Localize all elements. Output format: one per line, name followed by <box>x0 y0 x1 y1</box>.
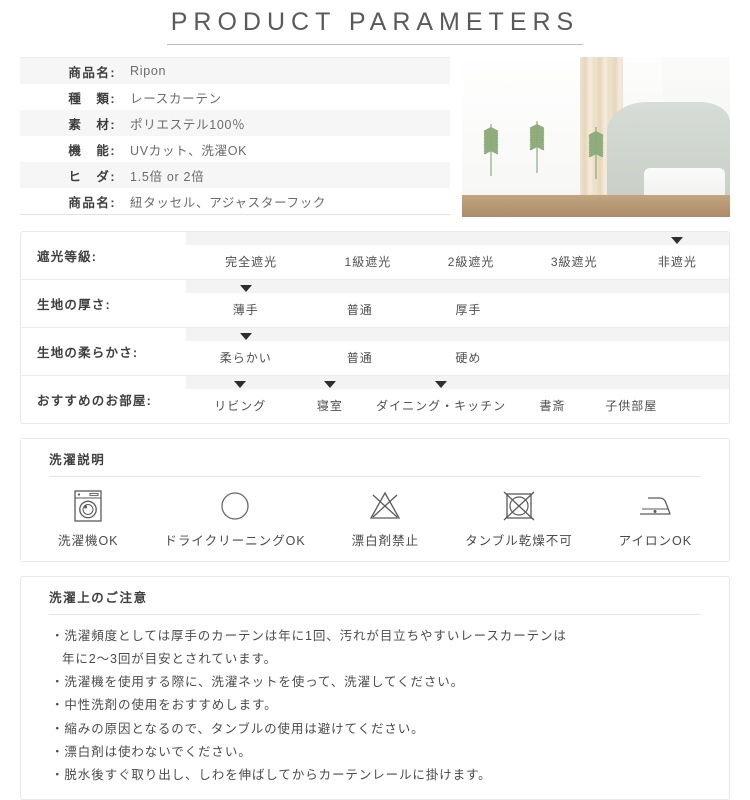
scale-options: 柔らかい普通硬め <box>186 328 729 375</box>
scale-option-label: 普通 <box>347 303 373 317</box>
scale-option-label: 子供部屋 <box>605 399 657 413</box>
spec-value: Ripon <box>130 64 166 78</box>
scale-option-label: 普通 <box>347 351 373 365</box>
leaf-motif-icon <box>529 121 545 173</box>
scale-option-label: 寝室 <box>317 399 343 413</box>
caution-item: ・脱水後すぐ取り出し、しわを伸ばしてからカーテンレールに掛けます。 <box>51 764 699 787</box>
scale-option-label: リビング <box>214 399 266 413</box>
scale-options: リビング寝室ダイニング・キッチン書斎子供部屋 <box>186 376 729 423</box>
scale-option[interactable]: 硬め <box>414 349 523 366</box>
scale-option[interactable]: 寝室 <box>295 397 366 414</box>
scale-option-label: 書斎 <box>539 399 565 413</box>
scale-label: 生地の柔らかさ: <box>21 328 186 375</box>
spec-value: UVカット、洗濯OK <box>130 140 247 159</box>
care-label: タンブル乾燥不可 <box>465 530 573 549</box>
spec-area: 商品名:Ripon種 類:レースカーテン素 材:ポリエステル100％機 能:UV… <box>20 57 730 217</box>
caution-line: ・脱水後すぐ取り出し、しわを伸ばしてからカーテンレールに掛けます。 <box>51 768 492 782</box>
scale-option[interactable]: 柔らかい <box>186 349 305 366</box>
scale-option[interactable]: リビング <box>186 397 295 414</box>
caution-line: ・中性洗剤の使用をおすすめします。 <box>51 698 278 712</box>
caution-item: ・漂白剤は使わないでください。 <box>51 741 699 764</box>
caution-item: ・中性洗剤の使用をおすすめします。 <box>51 694 699 717</box>
care-heading: 洗濯説明 <box>49 449 701 477</box>
scale-option-label: ダイニング・キッチン <box>376 399 506 413</box>
scale-option[interactable]: 薄手 <box>186 301 305 318</box>
scale-row: 生地の柔らかさ:柔らかい普通硬め <box>21 328 729 376</box>
scale-option[interactable]: ダイニング・キッチン <box>365 397 517 414</box>
scale-option-label: 1級遮光 <box>345 255 392 269</box>
caution-line: ・縮みの原因となるので、タンブルの使用は避けてください。 <box>51 722 425 736</box>
caution-line: ・洗濯頻度としては厚手のカーテンは年に1回、汚れが目立ちやすいレースカーテンは <box>51 629 567 643</box>
no-bleach-triangle-icon <box>368 489 402 523</box>
scale-option-label: 2級遮光 <box>448 255 495 269</box>
caution-section: 洗濯上のご注意 ・洗濯頻度としては厚手のカーテンは年に1回、汚れが目立ちやすいレ… <box>20 576 730 800</box>
scale-row: 遮光等級:完全遮光1級遮光2級遮光3級遮光非遮光 <box>21 232 729 280</box>
scale-option[interactable]: 書斎 <box>517 397 588 414</box>
scale-label: 生地の厚さ: <box>21 280 186 327</box>
scale-option[interactable]: 完全遮光 <box>186 253 316 270</box>
scale-option[interactable]: 厚手 <box>414 301 523 318</box>
selected-marker-icon <box>435 381 447 388</box>
spec-value: ポリエステル100％ <box>130 114 245 133</box>
caution-list: ・洗濯頻度としては厚手のカーテンは年に1回、汚れが目立ちやすいレースカーテンは年… <box>51 625 699 787</box>
care-section: 洗濯説明 洗濯機OKドライクリーニングOK漂白剤禁止タンブル乾燥不可アイロンOK <box>20 438 730 562</box>
spec-row: 素 材:ポリエステル100％ <box>20 110 450 136</box>
iron-icon <box>637 489 673 523</box>
care-label: 洗濯機OK <box>58 530 119 549</box>
scale-option[interactable]: 1級遮光 <box>316 253 419 270</box>
care-item: 洗濯機OK <box>58 489 119 549</box>
spec-label: ヒ ダ: <box>20 166 130 185</box>
caution-line: ・洗濯機を使用する際に、洗濯ネットを使って、洗濯してください。 <box>51 675 464 689</box>
scale-option-label: 硬め <box>455 351 481 365</box>
spec-row: 種 類:レースカーテン <box>20 84 450 110</box>
spec-row: 商品名:紐タッセル、アジャスターフック <box>20 188 450 214</box>
leaf-motif-icon <box>483 124 499 176</box>
caution-heading: 洗濯上のご注意 <box>49 587 701 615</box>
scale-option-label: 3級遮光 <box>551 255 598 269</box>
dry-clean-circle-icon <box>219 489 251 523</box>
scale-options: 完全遮光1級遮光2級遮光3級遮光非遮光 <box>186 232 729 279</box>
scale-options: 薄手普通厚手 <box>186 280 729 327</box>
leaf-motif-icon <box>588 127 604 179</box>
spec-label: 商品名: <box>20 192 130 211</box>
caution-line-cont: 年に2〜3回が目安とされています。 <box>51 648 699 671</box>
caution-item: ・洗濯機を使用する際に、洗濯ネットを使って、洗濯してください。 <box>51 671 699 694</box>
scale-option[interactable]: 2級遮光 <box>419 253 522 270</box>
product-parameters-page: PRODUCT PARAMETERS 商品名:Ripon種 類:レースカーテン素… <box>0 0 750 750</box>
selected-marker-icon <box>324 381 336 388</box>
selected-marker-icon <box>671 237 683 244</box>
scale-option[interactable]: 普通 <box>305 301 414 318</box>
product-photo <box>462 57 730 217</box>
care-label: ドライクリーニングOK <box>164 530 305 549</box>
selected-marker-icon <box>240 333 252 340</box>
scale-option[interactable]: 非遮光 <box>626 253 729 270</box>
scale-option[interactable]: 普通 <box>305 349 414 366</box>
care-item: タンブル乾燥不可 <box>465 489 573 549</box>
care-icon-row: 洗濯機OKドライクリーニングOK漂白剤禁止タンブル乾燥不可アイロンOK <box>21 477 729 549</box>
scale-row: おすすめのお部屋:リビング寝室ダイニング・キッチン書斎子供部屋 <box>21 376 729 423</box>
page-title: PRODUCT PARAMETERS <box>167 8 584 45</box>
scale-option-label: 非遮光 <box>658 255 697 269</box>
care-item: ドライクリーニングOK <box>164 489 305 549</box>
scale-option-label: 厚手 <box>455 303 481 317</box>
scale-label: 遮光等級: <box>21 232 186 279</box>
washing-machine-icon <box>73 489 103 523</box>
scale-option-label: 完全遮光 <box>225 255 277 269</box>
scale-option-label: 柔らかい <box>220 351 272 365</box>
spec-value: レースカーテン <box>130 88 222 107</box>
scale-option-label: 薄手 <box>233 303 259 317</box>
spec-row: ヒ ダ:1.5倍 or 2倍 <box>20 162 450 188</box>
selected-marker-icon <box>234 381 246 388</box>
scale-row: 生地の厚さ:薄手普通厚手 <box>21 280 729 328</box>
photo-floor <box>462 195 730 217</box>
selected-marker-icon <box>240 285 252 292</box>
spec-value: 紐タッセル、アジャスターフック <box>130 192 326 211</box>
spec-label: 商品名: <box>20 62 130 81</box>
photo-lace-curtain <box>462 57 585 199</box>
scale-option[interactable]: 3級遮光 <box>523 253 626 270</box>
page-title-wrap: PRODUCT PARAMETERS <box>0 0 750 45</box>
spec-value: 1.5倍 or 2倍 <box>130 166 204 185</box>
spec-label: 種 類: <box>20 88 130 107</box>
spec-table: 商品名:Ripon種 類:レースカーテン素 材:ポリエステル100％機 能:UV… <box>20 57 450 215</box>
caution-line: ・漂白剤は使わないでください。 <box>51 745 252 759</box>
spec-label: 機 能: <box>20 140 130 159</box>
scale-label: おすすめのお部屋: <box>21 376 186 423</box>
caution-item: ・洗濯頻度としては厚手のカーテンは年に1回、汚れが目立ちやすいレースカーテンは年… <box>51 625 699 671</box>
caution-item: ・縮みの原因となるので、タンブルの使用は避けてください。 <box>51 718 699 741</box>
care-item: アイロンOK <box>619 489 692 549</box>
spec-row: 商品名:Ripon <box>20 58 450 84</box>
no-tumble-dry-icon <box>502 489 536 523</box>
scale-option[interactable]: 子供部屋 <box>588 397 675 414</box>
care-label: アイロンOK <box>619 530 692 549</box>
scale-table: 遮光等級:完全遮光1級遮光2級遮光3級遮光非遮光生地の厚さ:薄手普通厚手生地の柔… <box>20 231 730 424</box>
care-label: 漂白剤禁止 <box>352 530 420 549</box>
spec-row: 機 能:UVカット、洗濯OK <box>20 136 450 162</box>
care-item: 漂白剤禁止 <box>352 489 420 549</box>
spec-label: 素 材: <box>20 114 130 133</box>
